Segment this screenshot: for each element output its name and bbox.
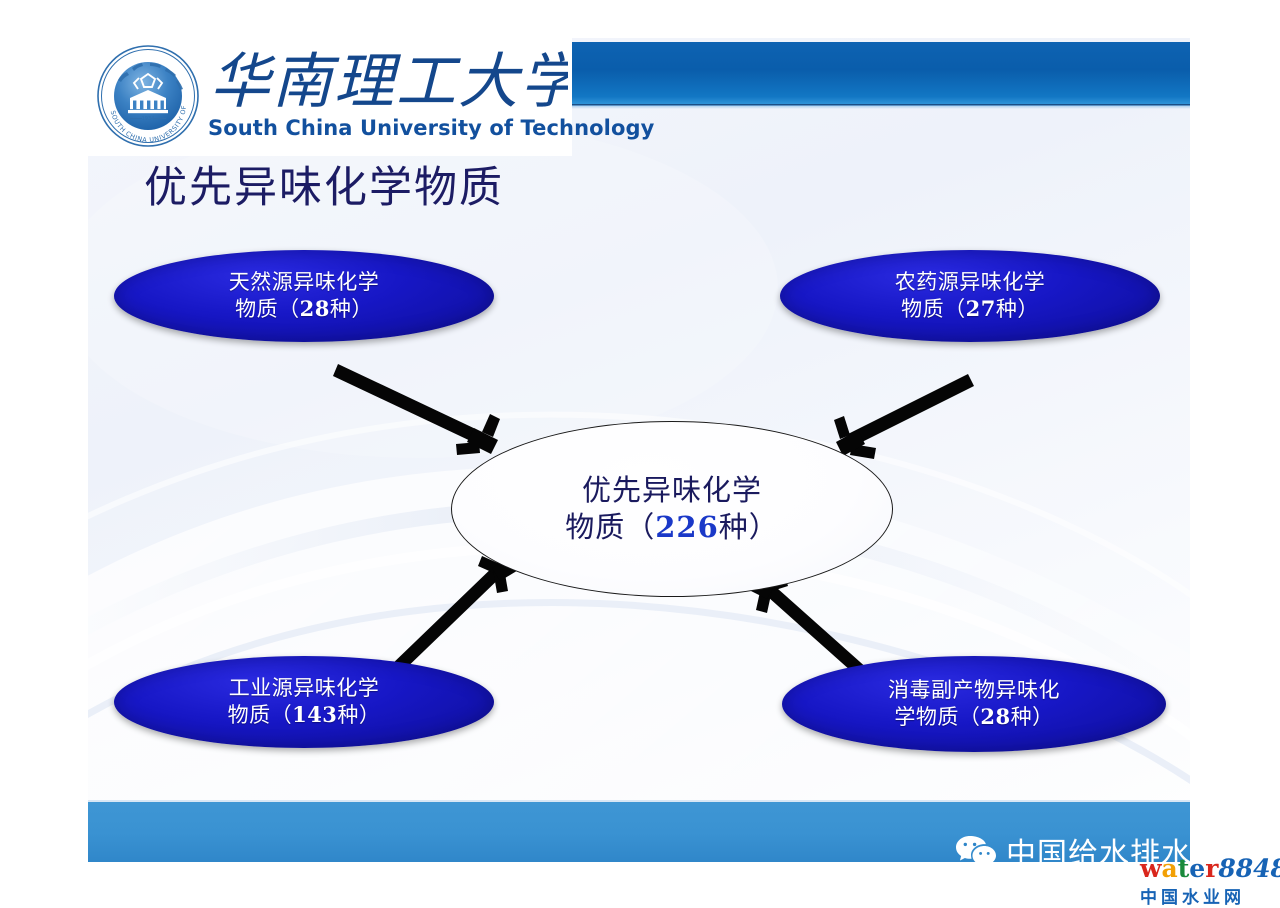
diagram-canvas: 天然源异味化学物质（28种） 农药源异味化学物质（27种） 工业源异味化学物质（… <box>88 38 1190 862</box>
wordmark-e: e <box>1189 854 1205 883</box>
wordmark-w: w <box>1140 854 1162 883</box>
university-name-calligraphy-cn: 华南理工大学 <box>208 42 568 120</box>
university-logo: SOUTH CHINA UNIVERSITY OF TECHNOLOGY <box>88 38 572 156</box>
logo-cn-text: 华南理工大学 <box>210 47 568 117</box>
node-pesticide-source[interactable]: 农药源异味化学物质（27种） <box>780 250 1160 342</box>
node-disinfection-byproduct-source-label: 消毒副产物异味化学物质（28种） <box>888 677 1060 731</box>
wordmark-digits: 8848 <box>1218 854 1280 883</box>
water8848-subtitle: 中国水业网 <box>1140 883 1280 908</box>
slide-screenshot: SOUTH CHINA UNIVERSITY OF TECHNOLOGY <box>0 0 1280 904</box>
water8848-wordmark: water8848.com <box>1140 856 1280 881</box>
node-priority-odor-chemicals[interactable]: 优先异味化学物质（226种） <box>451 421 893 597</box>
university-crest-icon: SOUTH CHINA UNIVERSITY OF TECHNOLOGY <box>96 44 200 148</box>
node-natural-source-label: 天然源异味化学物质（28种） <box>229 269 380 323</box>
node-industrial-source[interactable]: 工业源异味化学物质（143种） <box>114 656 494 748</box>
node-pesticide-source-label: 农药源异味化学物质（27种） <box>895 269 1046 323</box>
node-industrial-source-label: 工业源异味化学物质（143种） <box>228 675 381 729</box>
header-blue-bar <box>568 42 1190 106</box>
svg-text:1934: 1934 <box>142 116 155 122</box>
wechat-icon <box>955 834 997 868</box>
presentation-slide: SOUTH CHINA UNIVERSITY OF TECHNOLOGY <box>88 38 1190 862</box>
wordmark-t: t <box>1178 854 1190 883</box>
university-name-en: South China University of Technology <box>208 116 568 146</box>
wordmark-a: a <box>1162 854 1178 883</box>
water8848-watermark: water8848.com 中国水业网 <box>1140 856 1280 908</box>
node-natural-source[interactable]: 天然源异味化学物质（28种） <box>114 250 494 342</box>
wordmark-r: r <box>1205 854 1218 883</box>
node-disinfection-byproduct-source[interactable]: 消毒副产物异味化学物质（28种） <box>782 656 1166 752</box>
node-priority-odor-chemicals-label: 优先异味化学物质（226种） <box>565 472 779 546</box>
